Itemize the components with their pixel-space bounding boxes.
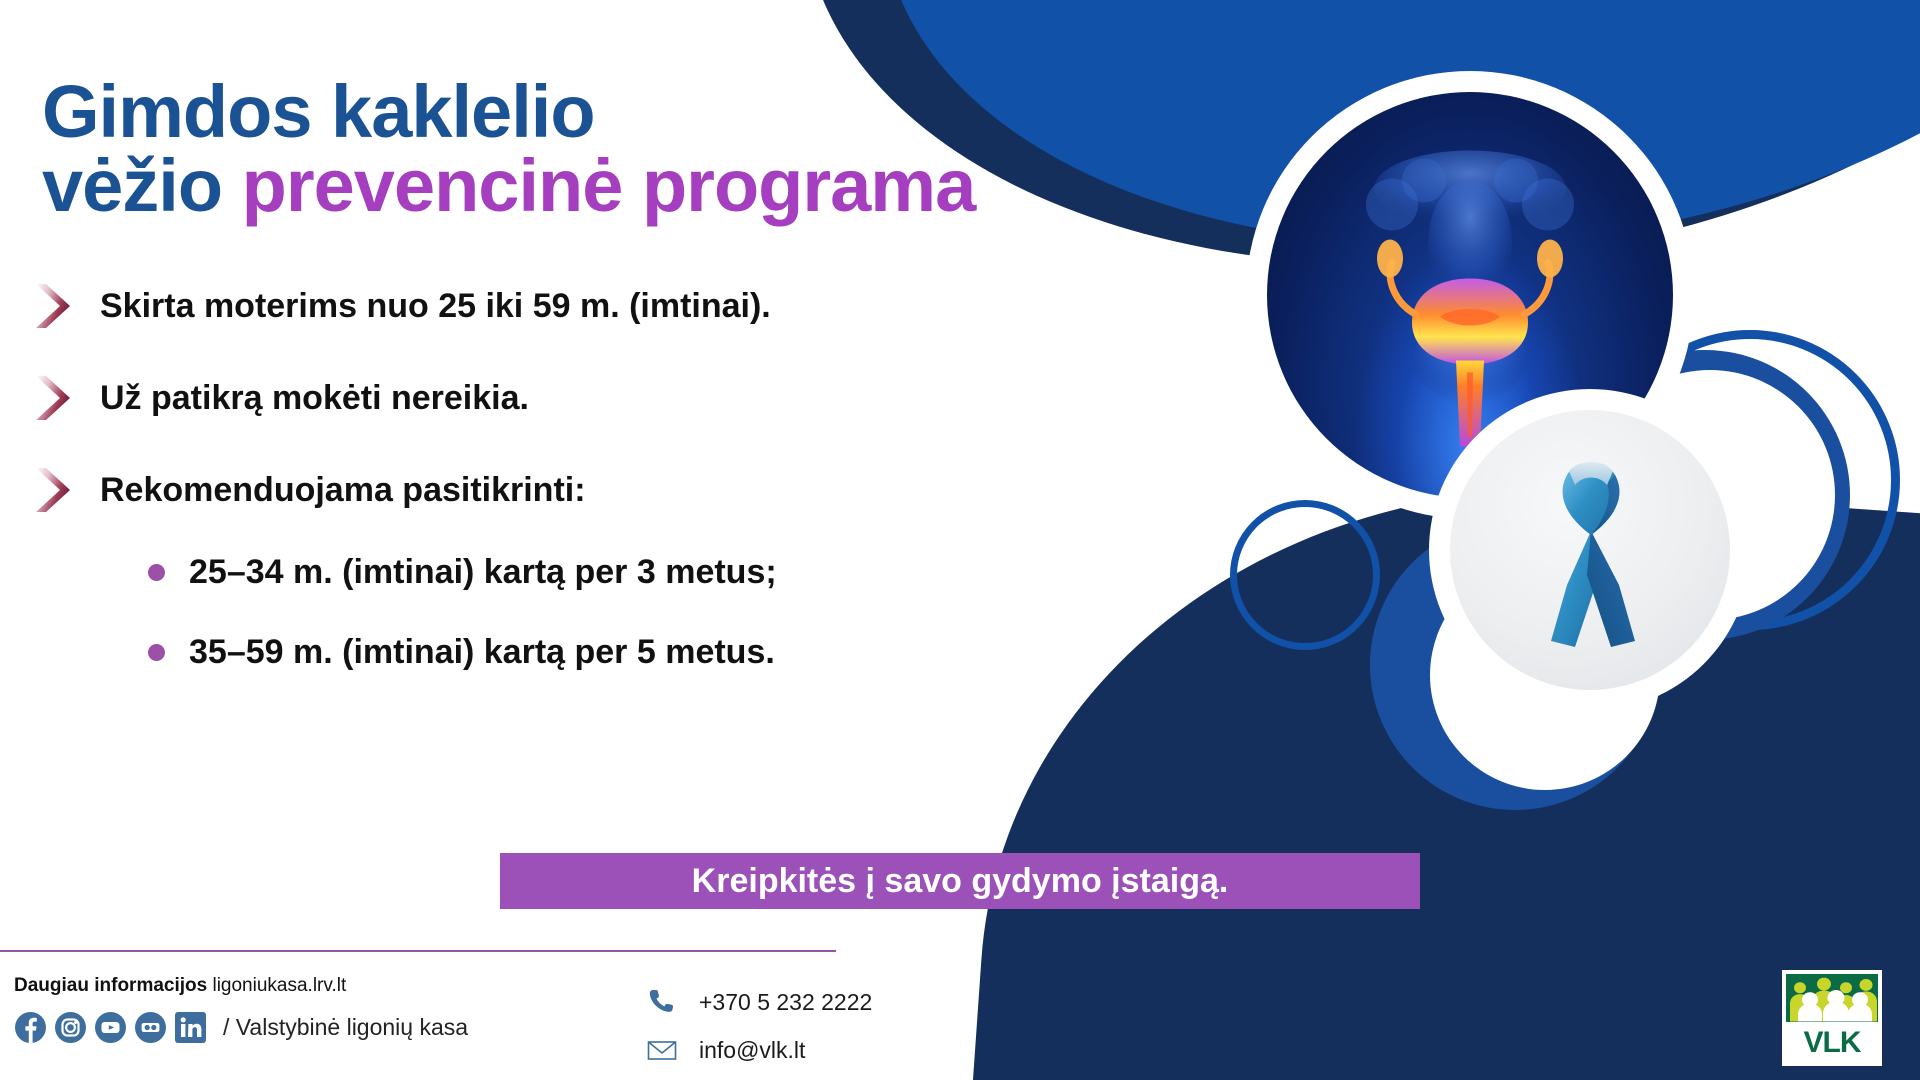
- email-icon: [645, 1033, 679, 1067]
- page-title: Gimdos kaklelio vėžio prevencinė program…: [42, 78, 975, 220]
- people-group-icon: [1786, 974, 1878, 1022]
- chevron-right-icon: [26, 280, 78, 332]
- sub-bullet-list: 25–34 m. (imtinai) kartą per 3 metus; 35…: [148, 532, 777, 692]
- headline-line-2-purple: prevencinė programa: [242, 144, 976, 227]
- contacts-block: +370 5 232 2222 info@vlk.lt: [645, 978, 872, 1074]
- social-handle: / Valstybinė ligonių kasa: [223, 1014, 468, 1041]
- chevron-right-icon: [26, 372, 78, 424]
- vlk-logo-inner: VLK: [1786, 974, 1878, 1062]
- bottom-right-navy-shape: [946, 450, 1920, 1080]
- ribbon-photo-circle: [1440, 400, 1740, 700]
- list-item: 25–34 m. (imtinai) kartą per 3 metus;: [148, 532, 777, 612]
- dot-bullet-icon: [148, 644, 165, 661]
- cta-banner: Kreipkitės į savo gydymo įstaigą.: [500, 853, 1420, 909]
- headline-line-2-blue: vėžio: [42, 144, 242, 227]
- youtube-icon[interactable]: [94, 1011, 127, 1044]
- more-info-line: Daugiau informacijos ligoniukasa.lrv.lt: [14, 975, 468, 997]
- instagram-icon[interactable]: [54, 1011, 87, 1044]
- blue-awareness-ribbon: [1450, 410, 1730, 690]
- phone-number[interactable]: +370 5 232 2222: [699, 989, 872, 1016]
- dot-bullet-icon: [148, 564, 165, 581]
- headline-line-1: Gimdos kaklelio: [42, 78, 975, 146]
- list-item: 35–59 m. (imtinai) kartą per 5 metus.: [148, 612, 777, 692]
- vlk-logo: VLK: [1782, 970, 1882, 1066]
- more-info-label: Daugiau informacijos: [14, 975, 207, 996]
- list-item: Skirta moterims nuo 25 iki 59 m. (imtina…: [26, 260, 1206, 352]
- vlk-wordmark: VLK: [1786, 1023, 1878, 1062]
- linkedin-icon[interactable]: [174, 1011, 207, 1044]
- social-links-row: / Valstybinė ligonių kasa: [14, 1011, 468, 1044]
- flickr-icon[interactable]: [134, 1011, 167, 1044]
- bullet-text: Skirta moterims nuo 25 iki 59 m. (imtina…: [100, 287, 771, 326]
- small-blue-ring-decoration: [1230, 500, 1380, 650]
- vlk-logo-figures: [1786, 974, 1878, 1022]
- list-item: Už patikrą mokėti nereikia.: [26, 352, 1206, 444]
- facebook-icon[interactable]: [14, 1011, 47, 1044]
- ribbon-graphic: [1495, 435, 1685, 665]
- bullet-text: Už patikrą mokėti nereikia.: [100, 379, 529, 418]
- list-item: Rekomenduojama pasitikrinti:: [26, 444, 1206, 536]
- sub-bullet-text: 35–59 m. (imtinai) kartą per 5 metus.: [189, 633, 775, 672]
- chevron-right-icon: [26, 464, 78, 516]
- phone-icon: [645, 985, 679, 1019]
- contact-phone-row: +370 5 232 2222: [645, 978, 872, 1026]
- cta-banner-text: Kreipkitės į savo gydymo įstaigą.: [692, 862, 1229, 901]
- footer-left-block: Daugiau informacijos ligoniukasa.lrv.lt: [14, 975, 468, 1044]
- email-address[interactable]: info@vlk.lt: [699, 1037, 805, 1064]
- headline-line-2: vėžio prevencinė programa: [42, 152, 975, 220]
- bullet-list: Skirta moterims nuo 25 iki 59 m. (imtina…: [26, 260, 1206, 536]
- footer-divider: [0, 950, 836, 952]
- poster-canvas: Gimdos kaklelio vėžio prevencinė program…: [0, 0, 1920, 1080]
- bullet-text: Rekomenduojama pasitikrinti:: [100, 471, 586, 510]
- website-link[interactable]: ligoniukasa.lrv.lt: [212, 975, 346, 996]
- sub-bullet-text: 25–34 m. (imtinai) kartą per 3 metus;: [189, 553, 777, 592]
- contact-email-row: info@vlk.lt: [645, 1026, 872, 1074]
